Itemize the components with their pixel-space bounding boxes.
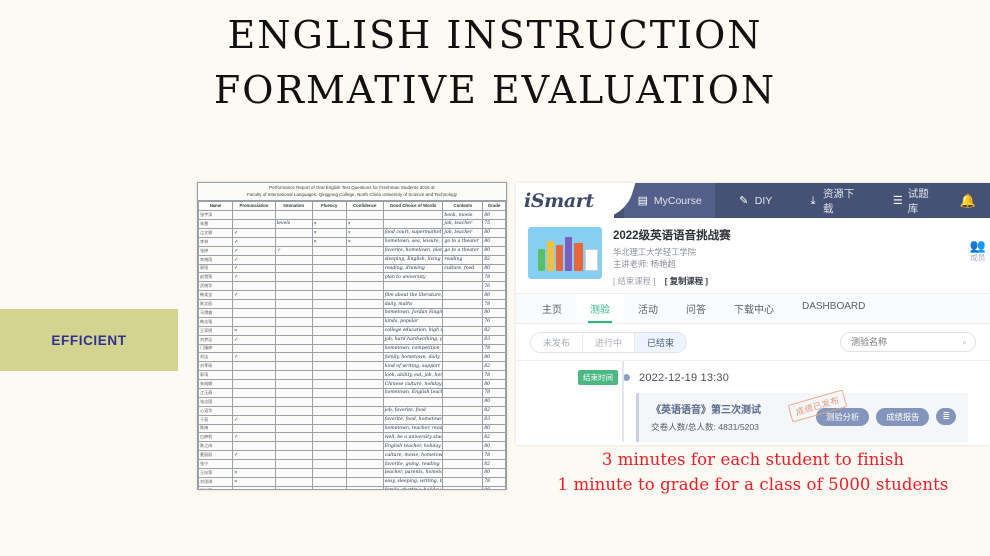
- table-cell: 韩志强: [199, 317, 233, 326]
- table-cell: [275, 451, 312, 460]
- table-cell: culture, movie, hometown: [383, 451, 443, 460]
- table-cell: [312, 291, 346, 300]
- table-cell: 82: [483, 406, 506, 415]
- table-cell: 武晓华: [199, 282, 233, 291]
- table-cell: 王向荣: [199, 468, 233, 477]
- table-cell: [312, 317, 346, 326]
- course-header: 2022级英语语音挑战赛 华北理工大学轻工学院 主讲老师: 杨艳超 [ 结束课程…: [516, 218, 990, 294]
- table-cell: 75: [483, 220, 506, 229]
- copy-course-button[interactable]: [ 复制课程 ]: [665, 276, 708, 286]
- table-cell: [383, 220, 443, 229]
- table-cell: [233, 317, 276, 326]
- table-cell: hometown, Jordan Singing: [383, 308, 443, 317]
- caption-line-2: 1 minute to grade for a class of 5000 st…: [516, 473, 990, 498]
- table-cell: [233, 282, 276, 291]
- table-cell: 82: [483, 362, 506, 371]
- table-cell: [233, 442, 276, 451]
- table-cell: [312, 255, 346, 264]
- table-cell: [275, 317, 312, 326]
- table-cell: [275, 371, 312, 380]
- table-cell: [312, 442, 346, 451]
- table-cell: 80: [483, 264, 506, 273]
- table-cell: 83: [483, 335, 506, 344]
- table-cell: ×: [346, 220, 383, 229]
- table-cell: 于丽: [199, 415, 233, 424]
- members-label: 成员: [970, 252, 986, 263]
- search-icon[interactable]: ⌕: [962, 337, 967, 348]
- table-cell: 门婧婷: [199, 344, 233, 353]
- table-cell: 朱慧: [199, 220, 233, 229]
- table-cell: [275, 228, 312, 237]
- table-cell: 白婷帆: [199, 433, 233, 442]
- table-row: 江玉燕hometown, English teacher78: [199, 388, 506, 397]
- table-row: 李林✓××hometown, sea, leisure, sportsgo to…: [199, 237, 506, 246]
- table-cell: 刘梦洁: [199, 335, 233, 344]
- report-title-line-1: Performance Report of Oral English Test …: [201, 185, 503, 192]
- tab-DASHBOARD[interactable]: DASHBOARD: [788, 294, 879, 323]
- table-cell: [346, 477, 383, 486]
- table-row: 张婷✓✓favorite, hometown, plan to staygo t…: [199, 246, 506, 255]
- table-cell: [233, 220, 276, 229]
- table-cell: 82: [483, 460, 506, 469]
- quiz-action-buttons: 测验分析成绩报告≣: [816, 408, 956, 426]
- table-cell: [233, 344, 276, 353]
- ismart-logo: iSmart: [524, 190, 594, 212]
- table-row: 郭涛look, ability, eat, job, hometown78: [199, 371, 506, 380]
- report-col-header: Intonation: [275, 201, 312, 211]
- table-cell: [312, 362, 346, 371]
- table-row: 陈文丽daily, maths78: [199, 300, 506, 309]
- table-cell: [443, 451, 483, 460]
- table-cell: [346, 246, 383, 255]
- table-row: 门婧婷hometown, competition78: [199, 344, 506, 353]
- table-cell: 刘洁: [199, 353, 233, 362]
- report-col-header: Fluency: [312, 201, 346, 211]
- report-col-header: Grade: [483, 201, 506, 211]
- table-cell: 刘莘瑶: [199, 362, 233, 371]
- table-cell: ×: [312, 220, 346, 229]
- nav-item-label: MyCourse: [654, 195, 702, 207]
- table-cell: ×: [233, 477, 276, 486]
- table-cell: [443, 460, 483, 469]
- table-cell: ✓: [233, 451, 276, 460]
- table-cell: hometown, competition: [383, 344, 443, 353]
- table-row: 江文娜✓××food court, supermarketjob, teache…: [199, 228, 506, 237]
- table-cell: [312, 282, 346, 291]
- table-cell: 76: [483, 282, 506, 291]
- table-cell: [346, 300, 383, 309]
- table-cell: 陈之冉: [199, 442, 233, 451]
- table-cell: [275, 477, 312, 486]
- table-cell: [275, 415, 312, 424]
- nav-item-试题库[interactable]: ☰试题库: [880, 183, 946, 218]
- table-cell: [443, 371, 483, 380]
- table-cell: [346, 326, 383, 335]
- table-cell: [346, 424, 383, 433]
- table-row: 马博睿hometown, Jordan Singing80: [199, 308, 506, 317]
- table-cell: [443, 300, 483, 309]
- table-cell: [443, 397, 483, 406]
- table-cell: [233, 486, 276, 490]
- tab-主页[interactable]: 主页: [528, 294, 576, 323]
- course-name: 2022级英语语音挑战赛: [613, 227, 980, 243]
- table-cell: [346, 308, 383, 317]
- table-cell: culture, food: [443, 264, 483, 273]
- table-cell: [275, 433, 312, 442]
- table-cell: ×: [346, 228, 383, 237]
- report-col-header: Confidence: [346, 201, 383, 211]
- table-cell: ✓: [233, 415, 276, 424]
- table-row: 白婷帆✓well, be a university student82: [199, 433, 506, 442]
- filter-已结束[interactable]: 已结束: [635, 333, 686, 352]
- table-cell: [346, 273, 383, 282]
- table-cell: [275, 308, 312, 317]
- table-cell: [275, 291, 312, 300]
- table-cell: [443, 388, 483, 397]
- ismart-logo-area[interactable]: iSmart: [516, 183, 614, 218]
- title-line-2: FORMATIVE EVALUATION: [0, 63, 990, 118]
- report-title-line-2: Faculty of International Languages, Qing…: [201, 192, 503, 199]
- table-cell: 80: [483, 237, 506, 246]
- table-cell: [233, 460, 276, 469]
- table-cell: [346, 415, 383, 424]
- table-cell: [233, 371, 276, 380]
- table-cell: [443, 308, 483, 317]
- table-cell: 80: [483, 442, 506, 451]
- table-cell: [312, 300, 346, 309]
- table-cell: [233, 308, 276, 317]
- table-cell: [443, 442, 483, 451]
- table-cell: 韩笑宝: [199, 291, 233, 300]
- table-cell: [275, 424, 312, 433]
- table-row: 王家明×college education, high school teach…: [199, 326, 506, 335]
- table-cell: easy, sleeping, writing, teacher: [383, 477, 443, 486]
- table-cell: [275, 468, 312, 477]
- filter-未发布[interactable]: 未发布: [531, 333, 583, 352]
- table-cell: 78: [483, 477, 506, 486]
- table-cell: hometown, sea, leisure, sports: [383, 237, 443, 246]
- table-cell: [346, 335, 383, 344]
- table-cell: ✓: [233, 291, 276, 300]
- table-cell: [443, 291, 483, 300]
- table-cell: 刘思琪: [199, 477, 233, 486]
- table-cell: 李林: [199, 237, 233, 246]
- nav-item-label: 试题库: [908, 186, 933, 216]
- table-cell: 马博睿: [199, 308, 233, 317]
- table-cell: ×: [312, 237, 346, 246]
- list-icon[interactable]: ≣: [936, 408, 956, 425]
- status-filter-group: 未发布进行中已结束: [530, 332, 687, 353]
- table-cell: [443, 353, 483, 362]
- table-cell: [312, 433, 346, 442]
- table-row: 王向荣×teacher, parents, hometown80: [199, 468, 506, 477]
- table-row: 刘思琪×easy, sleeping, writing, teacher78: [199, 477, 506, 486]
- table-cell: [275, 273, 312, 282]
- table-cell: [275, 353, 312, 362]
- tab-下载中心[interactable]: 下载中心: [720, 294, 788, 323]
- table-cell: [346, 468, 383, 477]
- table-cell: 78: [483, 273, 506, 282]
- table-cell: 82: [483, 433, 506, 442]
- table-cell: [443, 380, 483, 389]
- table-cell: 80: [483, 424, 506, 433]
- table-cell: [346, 344, 383, 353]
- table-cell: [383, 397, 443, 406]
- table-row: 李晓雨✓sleeping, English, livingreading82: [199, 255, 506, 264]
- table-cell: ✓: [233, 264, 276, 273]
- bell-glyph: 🔔: [960, 193, 976, 209]
- table-cell: [312, 468, 346, 477]
- table-cell: 80: [483, 211, 506, 220]
- table-cell: 江文娜: [199, 228, 233, 237]
- table-cell: well, be a university student: [383, 433, 443, 442]
- table-row: 赵雪荣✓plan to university78: [199, 273, 506, 282]
- table-cell: [312, 371, 346, 380]
- table-cell: [312, 380, 346, 389]
- table-cell: 张婷: [199, 246, 233, 255]
- table-cell: [275, 211, 312, 220]
- table-cell: [443, 406, 483, 415]
- table-cell: ×: [312, 228, 346, 237]
- table-cell: family, chatting, holiday, shopping: [383, 486, 443, 490]
- table-cell: [312, 486, 346, 490]
- table-cell: go to a theater: [443, 237, 483, 246]
- table-cell: [443, 477, 483, 486]
- table-cell: 陈梅: [199, 424, 233, 433]
- table-cell: 80: [483, 380, 506, 389]
- table-cell: [346, 353, 383, 362]
- oral-english-report-sheet: Performance Report of Oral English Test …: [197, 182, 507, 490]
- table-cell: [346, 264, 383, 273]
- table-cell: 夏丽丽: [199, 451, 233, 460]
- course-thumbnail: [528, 227, 602, 279]
- table-cell: [312, 326, 346, 335]
- table-cell: [346, 433, 383, 442]
- filter-进行中[interactable]: 进行中: [583, 333, 635, 352]
- table-cell: reading: [443, 255, 483, 264]
- table-cell: 80: [483, 353, 506, 362]
- nav-item-资源下载[interactable]: ⤓资源下载: [795, 183, 870, 218]
- table-cell: [275, 335, 312, 344]
- table-cell: [312, 335, 346, 344]
- quiz-action-成绩报告[interactable]: 成绩报告: [876, 408, 929, 426]
- table-cell: 心语华: [199, 406, 233, 415]
- table-cell: 张志国: [199, 397, 233, 406]
- table-cell: reading, drawing: [383, 264, 443, 273]
- table-cell: teacher, parents, hometown: [383, 468, 443, 477]
- table-row: 朱慧levels××job, teacher75: [199, 220, 506, 229]
- table-cell: 80: [483, 246, 506, 255]
- table-cell: 王家明: [199, 326, 233, 335]
- table-cell: go to a theater: [443, 246, 483, 255]
- table-cell: 80: [483, 228, 506, 237]
- table-cell: [443, 424, 483, 433]
- table-cell: [443, 468, 483, 477]
- table-row: 陈之冉English teacher, holiday80: [199, 442, 506, 451]
- timeline-entry-header: 结束时间 2022-12-19 13:30: [516, 370, 990, 386]
- table-cell: look, ability, eat, job, hometown: [383, 371, 443, 380]
- table-cell: 78: [483, 344, 506, 353]
- table-cell: job, favorite, food: [383, 406, 443, 415]
- table-cell: [346, 460, 383, 469]
- table-cell: [275, 460, 312, 469]
- timeline-datetime: 2022-12-19 13:30: [639, 372, 729, 384]
- table-cell: [312, 211, 346, 220]
- table-cell: [443, 273, 483, 282]
- table-cell: ✓: [233, 273, 276, 282]
- table-row: 张宁favorite, going, reading82: [199, 460, 506, 469]
- nav-item-mycourse[interactable]: ▤MyCourse: [624, 183, 715, 218]
- quiz-filter-row: 未发布进行中已结束 ⌕: [516, 324, 990, 361]
- page-title: ENGLISH INSTRUCTION FORMATIVE EVALUATION: [0, 8, 990, 118]
- ismart-nav-items: ▤MyCourse✎DIY⤓资源下载☰试题库: [614, 183, 946, 218]
- table-cell: [233, 397, 276, 406]
- table-cell: 80: [483, 291, 506, 300]
- quiz-card[interactable]: 《英语语音》第三次测试 交卷人数/总人数: 4831/5203 成绩已发布 测验…: [636, 393, 968, 442]
- efficient-callout-box: EFFICIENT: [0, 309, 178, 371]
- table-cell: [383, 211, 443, 220]
- table-cell: [443, 282, 483, 291]
- title-line-1: ENGLISH INSTRUCTION: [0, 8, 990, 63]
- table-cell: [312, 460, 346, 469]
- table-cell: [275, 380, 312, 389]
- table-cell: 陈文丽: [199, 300, 233, 309]
- tab-测验[interactable]: 测验: [576, 294, 624, 323]
- document-icon: ☰: [893, 195, 903, 207]
- nav-item-diy[interactable]: ✎DIY: [725, 183, 786, 218]
- report-col-header: Name: [199, 201, 233, 211]
- table-cell: [233, 424, 276, 433]
- nav-item-label: 资源下载: [823, 186, 857, 216]
- table-cell: [443, 335, 483, 344]
- table-cell: [275, 344, 312, 353]
- table-cell: levels: [275, 220, 312, 229]
- table-cell: job, teacher: [443, 220, 483, 229]
- caption-line-1: 3 minutes for each student to finish: [516, 448, 990, 473]
- table-cell: 80: [483, 397, 506, 406]
- tab-问答[interactable]: 问答: [672, 294, 720, 323]
- table-cell: [275, 486, 312, 490]
- report-col-header: Good Choice of Words: [383, 201, 443, 211]
- table-cell: [233, 362, 276, 371]
- bell-icon[interactable]: 🔔: [946, 183, 990, 218]
- table-cell: [312, 344, 346, 353]
- table-cell: 张宁: [199, 460, 233, 469]
- table-cell: ✓: [233, 246, 276, 255]
- quiz-submission-stat: 交卷人数/总人数: 4831/5203: [651, 421, 816, 433]
- table-cell: [312, 451, 346, 460]
- table-row: 刘洁✓family, hometown, daily80: [199, 353, 506, 362]
- table-cell: [346, 291, 383, 300]
- table-cell: [312, 406, 346, 415]
- members-shortcut[interactable]: 👥 成员: [970, 240, 986, 263]
- table-cell: favorite, food, hometown: [383, 415, 443, 424]
- table-cell: [312, 308, 346, 317]
- table-cell: [312, 415, 346, 424]
- table-cell: kinds, popular: [383, 317, 443, 326]
- table-cell: favorite, hometown, plan to stay: [383, 246, 443, 255]
- table-cell: ✓: [233, 335, 276, 344]
- table-cell: [312, 424, 346, 433]
- table-cell: [346, 486, 383, 490]
- table-cell: [312, 353, 346, 362]
- ismart-top-nav: iSmart ▤MyCourse✎DIY⤓资源下载☰试题库 🔔: [516, 183, 990, 218]
- red-caption: 3 minutes for each student to finish 1 m…: [516, 448, 990, 498]
- table-row: 刘莘瑶kind of writing, support82: [199, 362, 506, 371]
- tab-活动[interactable]: 活动: [624, 294, 672, 323]
- efficient-label: EFFICIENT: [51, 333, 126, 348]
- table-cell: [346, 406, 383, 415]
- table-cell: Chinese culture, holiday, family: [383, 380, 443, 389]
- table-cell: [233, 211, 276, 220]
- table-row: 于丽✓favorite, food, hometown83: [199, 415, 506, 424]
- table-cell: [233, 388, 276, 397]
- table-cell: [275, 362, 312, 371]
- table-row: 刘梦洁✓job, hard-hardworking, plan to83: [199, 335, 506, 344]
- table-row: 陈梅hometown, teacher, reading80: [199, 424, 506, 433]
- table-cell: [346, 388, 383, 397]
- table-cell: [233, 406, 276, 415]
- table-cell: [275, 406, 312, 415]
- table-cell: [233, 380, 276, 389]
- table-cell: [346, 255, 383, 264]
- table-cell: 80: [483, 468, 506, 477]
- table-cell: [346, 371, 383, 380]
- ismart-tab-bar: 主页测验活动问答下载中心DASHBOARD: [516, 294, 990, 324]
- table-cell: book, movie: [443, 211, 483, 220]
- quiz-search-box[interactable]: ⌕: [840, 332, 976, 352]
- table-cell: 郭阳: [199, 264, 233, 273]
- table-cell: [443, 344, 483, 353]
- table-cell: 78: [483, 300, 506, 309]
- table-cell: ✓: [233, 353, 276, 362]
- table-cell: [275, 388, 312, 397]
- table-cell: 80: [483, 486, 506, 490]
- table-cell: job, hard-hardworking, plan to: [383, 335, 443, 344]
- table-cell: 82: [483, 255, 506, 264]
- search-input[interactable]: [849, 336, 962, 348]
- table-cell: ✓: [275, 246, 312, 255]
- ismart-app-screenshot: iSmart ▤MyCourse✎DIY⤓资源下载☰试题库 🔔 2022级英语语…: [516, 183, 990, 445]
- course-teacher: 主讲老师: 杨艳超: [613, 258, 980, 270]
- table-cell: job, teacher: [443, 228, 483, 237]
- table-cell: 76: [483, 317, 506, 326]
- table-cell: ×: [233, 326, 276, 335]
- course-info: 2022级英语语音挑战赛 华北理工大学轻工学院 主讲老师: 杨艳超 [ 结束课程…: [613, 227, 980, 287]
- table-cell: [275, 326, 312, 335]
- table-cell: 朱纯娜: [199, 380, 233, 389]
- table-cell: [443, 415, 483, 424]
- table-cell: ✓: [233, 255, 276, 264]
- table-cell: English teacher, holiday: [383, 442, 443, 451]
- table-cell: [346, 317, 383, 326]
- table-cell: [346, 211, 383, 220]
- timeline-line: [622, 361, 624, 442]
- table-cell: 83: [483, 415, 506, 424]
- end-course-button[interactable]: [ 结束课程 ]: [613, 276, 655, 286]
- table-cell: [275, 442, 312, 451]
- table-cell: [346, 451, 383, 460]
- table-cell: [346, 397, 383, 406]
- table-cell: 赵雪荣: [199, 273, 233, 282]
- table-cell: 郭涛: [199, 371, 233, 380]
- table-cell: [346, 362, 383, 371]
- course-institution: 华北理工大学轻工学院: [613, 246, 980, 258]
- table-cell: 江玉燕: [199, 388, 233, 397]
- table-cell: [275, 300, 312, 309]
- table-cell: [443, 486, 483, 490]
- table-row: 武晓华76: [199, 282, 506, 291]
